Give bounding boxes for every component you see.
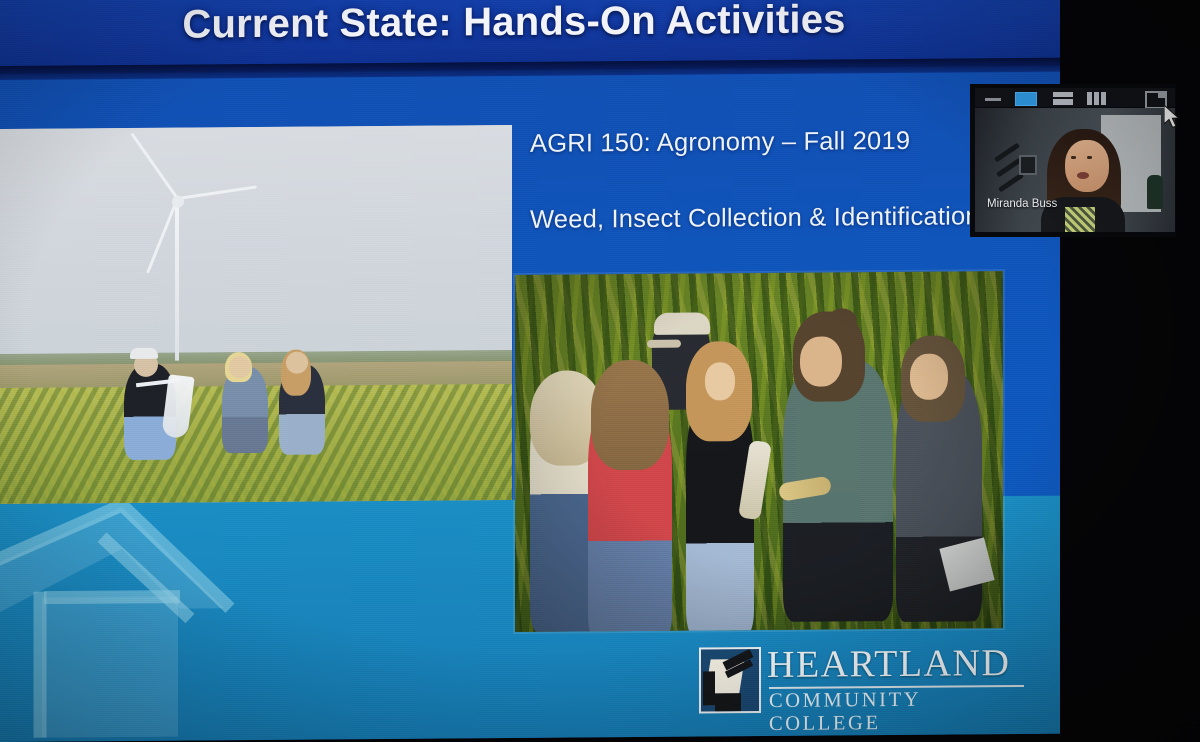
minimize-icon[interactable]: [985, 98, 1001, 101]
grid-view-icon[interactable]: [1087, 92, 1106, 105]
speaker-view-icon[interactable]: [1015, 92, 1037, 106]
screen-capture: Current State: Hands-On Activities: [0, 0, 1200, 742]
wind-turbine-icon: [175, 203, 179, 361]
gallery-rows-icon[interactable]: [1053, 92, 1073, 105]
presentation-slide[interactable]: Current State: Hands-On Activities: [0, 0, 1060, 742]
wall-picture-frame: [1019, 155, 1037, 175]
participant-name-label: Miranda Buss: [987, 198, 1057, 210]
video-view-toolbar[interactable]: [975, 88, 1175, 107]
participant-video-tile[interactable]: [975, 108, 1175, 232]
photo-students-sweep-net: [0, 125, 512, 504]
heartland-building-mark-icon: [699, 647, 761, 713]
slide-title: Current State: Hands-On Activities: [0, 0, 1034, 49]
logo-wordmark-top: HEARTLAND: [767, 641, 1010, 687]
video-conference-panel[interactable]: Miranda Buss: [970, 84, 1176, 237]
photo-students-corn-field: [515, 271, 1003, 632]
participant-avatar: [1065, 140, 1109, 192]
logo-wordmark-bottom: COMMUNITY COLLEGE: [769, 688, 1029, 736]
heartland-roofline-watermark-icon: [0, 496, 324, 742]
heartland-logo: HEARTLAND COMMUNITY COLLEGE: [699, 641, 1029, 718]
